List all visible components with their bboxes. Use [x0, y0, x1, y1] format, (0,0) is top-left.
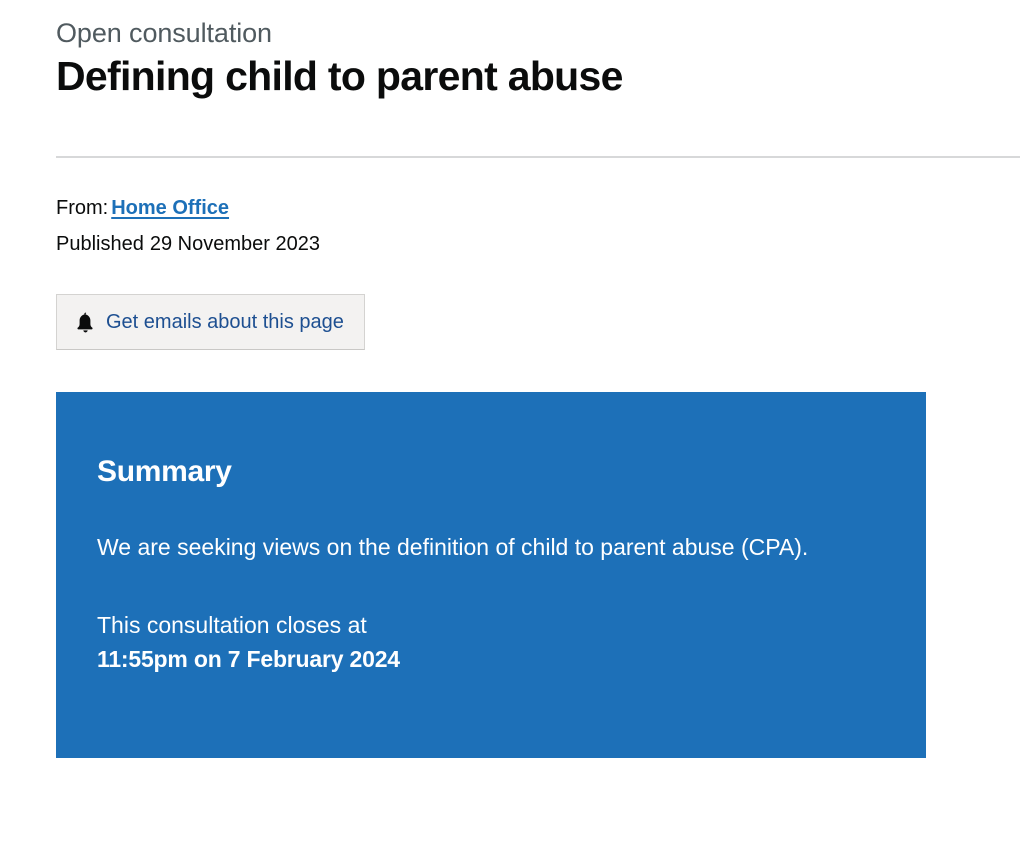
summary-panel: Summary We are seeking views on the defi…	[56, 392, 926, 758]
header-divider	[56, 156, 1020, 158]
bell-icon	[76, 312, 95, 333]
from-label: From:	[56, 197, 108, 219]
get-emails-button-label: Get emails about this page	[106, 312, 344, 332]
consultation-page: Open consultation Defining child to pare…	[0, 0, 1023, 866]
get-emails-button[interactable]: Get emails about this page	[56, 294, 365, 350]
from-row: From:Home Office	[56, 194, 1020, 223]
published-row: Published29 November 2023	[56, 230, 1020, 259]
consultation-closes-label: This consultation closes at	[97, 608, 886, 642]
summary-closing-block: This consultation closes at 11:55pm on 7…	[97, 608, 886, 676]
publication-metadata: From:Home Office Published29 November 20…	[56, 194, 1020, 259]
page-title: Defining child to parent abuse	[56, 54, 1020, 99]
title-block: Open consultation Defining child to pare…	[56, 0, 1020, 99]
published-date: 29 November 2023	[150, 233, 320, 255]
consultation-closing-date: 11:55pm on 7 February 2024	[97, 642, 886, 676]
consultation-status-label: Open consultation	[56, 18, 1020, 48]
summary-paragraph: We are seeking views on the definition o…	[97, 533, 886, 563]
published-label: Published	[56, 233, 144, 255]
content-container: Open consultation Defining child to pare…	[0, 0, 1023, 758]
summary-heading: Summary	[97, 455, 886, 488]
organisation-link-home-office[interactable]: Home Office	[111, 197, 229, 219]
